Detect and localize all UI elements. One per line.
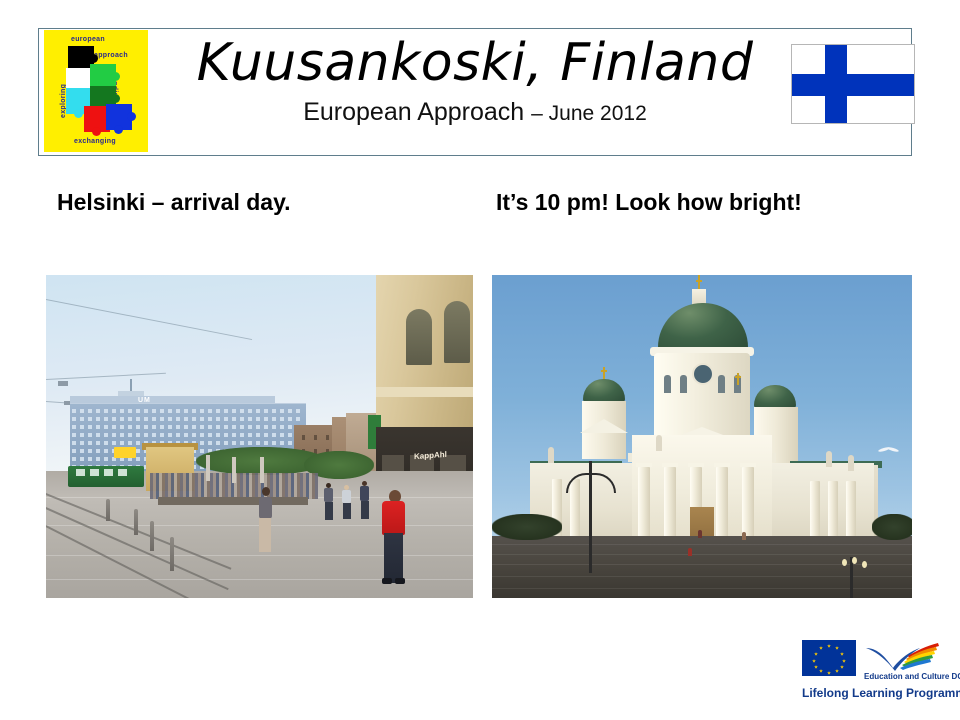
building-sign (114, 447, 136, 458)
caption-right: It’s 10 pm! Look how bright! (496, 188, 802, 216)
pedestrian-head (262, 487, 270, 496)
umbrella (260, 457, 264, 483)
seagull (878, 445, 900, 454)
visitor-on-steps (688, 548, 692, 556)
llp-swoosh-icon (864, 642, 942, 672)
caption-left: Helsinki – arrival day. (57, 188, 291, 216)
logo-word-european: european (71, 36, 105, 43)
eu-flag (802, 640, 856, 676)
lamp-head (862, 561, 867, 568)
page-subtitle-date: – June 2012 (531, 102, 647, 125)
european-approach-puzzle-logo: european approach funding exploring exch… (44, 30, 148, 152)
drum-window (664, 375, 671, 393)
cross-right (735, 376, 741, 378)
lamp-head (852, 557, 857, 564)
roof-statue (826, 451, 832, 467)
tree-foliage (872, 514, 912, 540)
bollard (134, 509, 138, 535)
page-title: Kuusankoski, Finland (150, 32, 800, 94)
building-roof-label: UM (138, 397, 151, 404)
drum-window (680, 375, 687, 393)
tower-pediment-left (580, 419, 628, 433)
eu-llp-text: Lifelong Learning Programme (802, 686, 960, 700)
page-subtitle-main: European Approach (303, 98, 531, 126)
wire-insulator (58, 381, 68, 386)
shoe (382, 578, 392, 584)
logo-word-approach: approach (94, 52, 128, 59)
eu-dg-text: Education and Culture DG (864, 672, 960, 681)
man-in-red-shirt (382, 501, 405, 535)
title-block: Kuusankoski, Finland European Approach –… (150, 32, 800, 130)
bollard (106, 499, 110, 521)
umbrella (232, 457, 236, 483)
roof-statue (548, 447, 554, 463)
logo-word-exchanging: exchanging (74, 138, 116, 145)
pedestrian-body (259, 497, 272, 519)
drum-window (718, 375, 725, 393)
building-cornice (376, 387, 473, 397)
roof-statue (656, 435, 662, 451)
flag-cross-vertical (825, 45, 847, 123)
umbrella (206, 455, 210, 481)
arched-window (406, 309, 432, 365)
lamp-head (842, 559, 847, 566)
pedestrian-legs (259, 518, 271, 552)
finland-flag (791, 44, 915, 124)
visitor-on-steps (742, 532, 746, 540)
cross-left (601, 370, 607, 372)
finial-cross-left (603, 367, 605, 379)
photo-helsinki-square: UM KappAhl (46, 275, 473, 598)
finial-cross-right (737, 373, 739, 385)
shoe (395, 578, 405, 584)
arched-window (444, 301, 470, 363)
dome-clock (692, 363, 714, 385)
bollard (170, 537, 174, 571)
man-in-red-legs (384, 533, 403, 583)
photo-helsinki-cathedral (492, 275, 912, 598)
tree-foliage (492, 514, 562, 540)
bench (158, 497, 308, 505)
page-subtitle: European Approach – June 2012 (150, 96, 800, 130)
lifelong-learning-programme-logo: Education and Culture DG Lifelong Learni… (802, 640, 942, 706)
roof-statue (848, 455, 854, 471)
cathedral-steps (492, 536, 912, 598)
cross-main (696, 280, 702, 282)
visitor-on-steps (698, 530, 702, 538)
puzzle-piece-blue (106, 104, 132, 130)
bollard (150, 521, 154, 551)
flag-cross-horizontal (792, 74, 914, 96)
